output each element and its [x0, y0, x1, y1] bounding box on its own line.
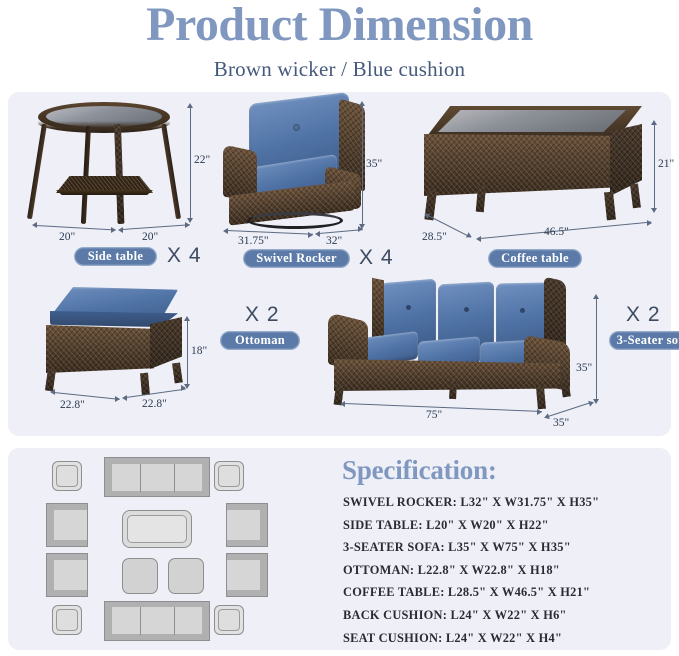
- spec-line-side-table: SIDE TABLE: L20" X W20" X H22": [343, 514, 669, 537]
- layout-rocker-right-1: [226, 503, 268, 547]
- coffee-table-label-text: Coffee table: [501, 251, 569, 266]
- spec-line-coffee-table: COFFEE TABLE: L28.5" X W46.5" X H21": [343, 581, 669, 604]
- layout-side-table-inner: [218, 465, 240, 487]
- coffee-table-dim-depth: 28.5": [422, 231, 447, 243]
- ottoman-dim-height: 18": [191, 345, 207, 357]
- product-dimension-infographic: Product Dimension Brown wicker / Blue cu…: [0, 0, 679, 656]
- sofa-height-line: [596, 299, 597, 399]
- ottoman-multiplier: X 2: [245, 303, 280, 327]
- layout-side-table-inner: [56, 609, 78, 631]
- layout-coffee-table: [122, 510, 192, 548]
- swivel-rocker-illustration: [221, 96, 371, 230]
- side-table-label: Side table: [74, 247, 157, 266]
- swivel-rocker-dim-width-left: 31.75": [238, 235, 269, 247]
- coffee-table-illustration: [424, 106, 642, 226]
- side-table-label-text: Side table: [88, 249, 143, 264]
- swivel-rocker-dim-width-right: 32": [326, 235, 342, 247]
- spec-line-swivel-rocker: SWIVEL ROCKER: L32" X W31.75" X H35": [343, 491, 669, 514]
- layout-sofa-bottom: [104, 601, 210, 641]
- side-table-dim-width-left: 20": [59, 231, 75, 243]
- product-coffee-table: 21" 28.5" 46.5" Coffee table: [404, 94, 667, 274]
- sofa-label: 3-Seater sofa: [609, 331, 679, 350]
- layout-ottoman-1: [122, 558, 158, 594]
- page-title: Product Dimension: [0, 0, 679, 52]
- page-subtitle: Brown wicker / Blue cushion: [0, 57, 679, 82]
- bottom-panel: Specification: SWIVEL ROCKER: L32" X W31…: [8, 448, 671, 650]
- layout-side-table-inner: [56, 465, 78, 487]
- spec-line-back-cushion: BACK CUSHION: L24" X W22" X H6": [343, 604, 669, 627]
- swivel-rocker-dim-height: 35": [366, 158, 382, 170]
- product-swivel-rocker: 35" 31.75" 32" Swivel Rocker X 4: [211, 94, 407, 274]
- specification-heading: Specification:: [342, 455, 497, 486]
- coffee-table-height-line: [654, 125, 655, 208]
- layout-side-table-1: [52, 461, 82, 491]
- coffee-table-label: Coffee table: [488, 249, 582, 268]
- sofa-multiplier: X 2: [626, 303, 661, 327]
- side-table-height-line: [190, 108, 191, 218]
- product-ottoman: 18" 22.8" 22.8" X 2 Ottoman: [12, 277, 312, 432]
- ottoman-label-text: Ottoman: [235, 333, 285, 348]
- layout-rocker-left-1: [46, 503, 88, 547]
- layout-side-table-2: [214, 461, 244, 491]
- ottoman-label: Ottoman: [220, 331, 300, 350]
- side-table-illustration: [30, 100, 180, 230]
- ottoman-illustration: [42, 287, 192, 397]
- swivel-rocker-height-line: [362, 106, 363, 224]
- coffee-table-dim-width: 46.5": [544, 226, 569, 238]
- side-table-multiplier: X 4: [167, 244, 202, 268]
- product-side-table: 22" 20" 20" Side table X 4: [12, 94, 224, 274]
- swivel-rocker-label-text: Swivel Rocker: [256, 251, 337, 266]
- layout-rocker-left-2: [46, 553, 88, 597]
- spec-line-seat-cushion: SEAT CUSHION: L24" X W22" X H4": [343, 627, 669, 650]
- layout-side-table-4: [214, 605, 244, 635]
- ottoman-dim-width: 22.8": [142, 398, 167, 410]
- layout-rocker-right-2: [226, 553, 268, 597]
- sofa-dim-width: 75": [426, 409, 442, 421]
- sofa-dim-height: 35": [576, 362, 592, 374]
- spec-line-three-seater-sofa: 3-SEATER SOFA: L35" X W75" X H35": [343, 536, 669, 559]
- sofa-dim-depth: 35": [553, 417, 569, 429]
- header: Product Dimension Brown wicker / Blue cu…: [0, 0, 679, 88]
- layout-sofa-top: [104, 457, 210, 497]
- layout-diagram: [18, 455, 328, 643]
- three-seater-sofa-illustration: [326, 277, 586, 412]
- specification-block: Specification: SWIVEL ROCKER: L32" X W31…: [337, 455, 671, 643]
- side-table-dim-width-right: 20": [142, 231, 158, 243]
- swivel-rocker-label: Swivel Rocker: [243, 249, 350, 268]
- swivel-rocker-multiplier: X 4: [359, 246, 394, 270]
- ottoman-dim-depth: 22.8": [60, 399, 85, 411]
- layout-coffee-table-inner: [127, 515, 187, 543]
- layout-side-table-inner: [218, 609, 240, 631]
- sofa-label-text: 3-Seater sofa: [617, 333, 679, 348]
- layout-ottoman-2: [168, 558, 204, 594]
- products-panel: 22" 20" 20" Side table X 4: [8, 92, 671, 436]
- layout-side-table-3: [52, 605, 82, 635]
- side-table-dim-height: 22": [194, 154, 210, 166]
- specification-list: SWIVEL ROCKER: L32" X W31.75" X H35" SID…: [343, 491, 669, 649]
- product-three-seater-sofa: 35" 75" 35" X 2 3-Seater sofa: [308, 277, 668, 432]
- ottoman-height-line: [187, 321, 188, 384]
- coffee-table-dim-height: 21": [658, 158, 674, 170]
- spec-line-ottoman: OTTOMAN: L22.8" X W22.8" X H18": [343, 559, 669, 582]
